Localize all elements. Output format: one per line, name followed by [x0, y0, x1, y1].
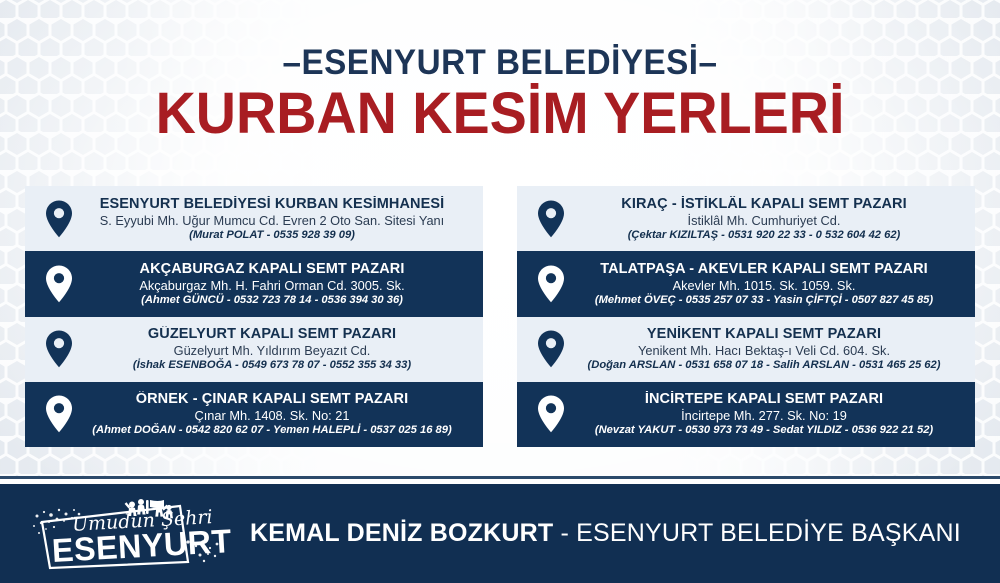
- page-title: KURBAN KESİM YERLERİ: [20, 84, 980, 144]
- location-address: Yenikent Mh. Hacı Bektaş-ı Veli Cd. 604.…: [577, 343, 951, 358]
- location-address: İstiklâl Mh. Cumhuriyet Cd.: [577, 213, 951, 228]
- footer-divider-line: [0, 476, 1000, 479]
- mayor-name: KEMAL DENİZ BOZKURT: [250, 519, 553, 547]
- location-title: TALATPAŞA - AKEVLER KAPALI SEMT PAZARI: [577, 261, 951, 278]
- location-card-text: GÜZELYURT KAPALI SEMT PAZARI Güzelyurt M…: [85, 326, 477, 372]
- location-contact: (Mehmet ÖVEÇ - 0535 257 07 33 - Yasin Çİ…: [577, 293, 951, 307]
- location-contact: (Ahmet DOĞAN - 0542 820 62 07 - Yemen HA…: [85, 423, 459, 437]
- location-card[interactable]: ESENYURT BELEDİYESİ KURBAN KESİMHANESİ S…: [25, 186, 483, 251]
- locations-grid: ESENYURT BELEDİYESİ KURBAN KESİMHANESİ S…: [25, 186, 975, 447]
- map-pin-icon: [525, 264, 577, 304]
- headline-block: –ESENYURT BELEDİYESİ– KURBAN KESİM YERLE…: [0, 44, 1000, 144]
- map-pin-icon: [33, 394, 85, 434]
- footer-bar: Umudun Şehri ESENYURT KEMAL DENİZ BOZKUR…: [0, 484, 1000, 583]
- location-card[interactable]: AKÇABURGAZ KAPALI SEMT PAZARI Akçaburgaz…: [25, 251, 483, 316]
- location-card[interactable]: ÖRNEK - ÇINAR KAPALI SEMT PAZARI Çınar M…: [25, 382, 483, 447]
- location-card-text: İNCİRTEPE KAPALI SEMT PAZARI İncirtepe M…: [577, 391, 969, 437]
- location-contact: (Ahmet GÜNCÜ - 0532 723 78 14 - 0536 394…: [85, 293, 459, 307]
- location-address: Güzelyurt Mh. Yıldırım Beyazıt Cd.: [85, 343, 459, 358]
- location-address: İncirtepe Mh. 277. Sk. No: 19: [577, 408, 951, 423]
- location-card[interactable]: İNCİRTEPE KAPALI SEMT PAZARI İncirtepe M…: [517, 382, 975, 447]
- location-contact: (Nevzat YAKUT - 0530 973 73 49 - Sedat Y…: [577, 423, 951, 437]
- location-card-text: TALATPAŞA - AKEVLER KAPALI SEMT PAZARI A…: [577, 261, 969, 307]
- location-title: GÜZELYURT KAPALI SEMT PAZARI: [85, 326, 459, 343]
- map-pin-icon: [33, 264, 85, 304]
- locations-column-right: KIRAÇ - İSTİKLÂL KAPALI SEMT PAZARI İsti…: [517, 186, 975, 447]
- location-card-text: AKÇABURGAZ KAPALI SEMT PAZARI Akçaburgaz…: [85, 261, 477, 307]
- location-card[interactable]: KIRAÇ - İSTİKLÂL KAPALI SEMT PAZARI İsti…: [517, 186, 975, 251]
- location-contact: (Doğan ARSLAN - 0531 658 07 18 - Salih A…: [577, 358, 951, 372]
- locations-column-left: ESENYURT BELEDİYESİ KURBAN KESİMHANESİ S…: [25, 186, 483, 447]
- location-contact: (İshak ESENBOĞA - 0549 673 78 07 - 0552 …: [85, 358, 459, 372]
- map-pin-icon: [33, 199, 85, 239]
- location-title: YENİKENT KAPALI SEMT PAZARI: [577, 326, 951, 343]
- mayor-role: - ESENYURT BELEDİYE BAŞKANI: [553, 519, 961, 547]
- location-title: KIRAÇ - İSTİKLÂL KAPALI SEMT PAZARI: [577, 196, 951, 213]
- location-title: İNCİRTEPE KAPALI SEMT PAZARI: [577, 391, 951, 408]
- map-pin-icon: [525, 199, 577, 239]
- map-pin-icon: [525, 329, 577, 369]
- map-pin-icon: [525, 394, 577, 434]
- esenyurt-logo[interactable]: Umudun Şehri ESENYURT: [28, 498, 228, 570]
- location-title: ÖRNEK - ÇINAR KAPALI SEMT PAZARI: [85, 391, 459, 408]
- location-title: AKÇABURGAZ KAPALI SEMT PAZARI: [85, 261, 459, 278]
- location-card-text: ESENYURT BELEDİYESİ KURBAN KESİMHANESİ S…: [85, 196, 477, 242]
- location-address: Akevler Mh. 1015. Sk. 1059. Sk.: [577, 278, 951, 293]
- location-card-text: YENİKENT KAPALI SEMT PAZARI Yenikent Mh.…: [577, 326, 969, 372]
- location-card[interactable]: YENİKENT KAPALI SEMT PAZARI Yenikent Mh.…: [517, 317, 975, 382]
- map-pin-icon: [33, 329, 85, 369]
- location-contact: (Murat POLAT - 0535 928 39 09): [85, 228, 459, 242]
- location-card-text: ÖRNEK - ÇINAR KAPALI SEMT PAZARI Çınar M…: [85, 391, 477, 437]
- location-card[interactable]: GÜZELYURT KAPALI SEMT PAZARI Güzelyurt M…: [25, 317, 483, 382]
- poster-root: –ESENYURT BELEDİYESİ– KURBAN KESİM YERLE…: [0, 0, 1000, 583]
- footer-caption: KEMAL DENİZ BOZKURT - ESENYURT BELEDİYE …: [250, 519, 961, 548]
- location-card-text: KIRAÇ - İSTİKLÂL KAPALI SEMT PAZARI İsti…: [577, 196, 969, 242]
- location-address: S. Eyyubi Mh. Uğur Mumcu Cd. Evren 2 Oto…: [85, 213, 459, 228]
- location-contact: (Çektar KIZILTAŞ - 0531 920 22 33 - 0 53…: [577, 228, 951, 242]
- location-address: Akçaburgaz Mh. H. Fahri Orman Cd. 3005. …: [85, 278, 459, 293]
- page-kicker: –ESENYURT BELEDİYESİ–: [25, 44, 975, 82]
- location-card[interactable]: TALATPAŞA - AKEVLER KAPALI SEMT PAZARI A…: [517, 251, 975, 316]
- location-address: Çınar Mh. 1408. Sk. No: 21: [85, 408, 459, 423]
- location-title: ESENYURT BELEDİYESİ KURBAN KESİMHANESİ: [85, 196, 459, 213]
